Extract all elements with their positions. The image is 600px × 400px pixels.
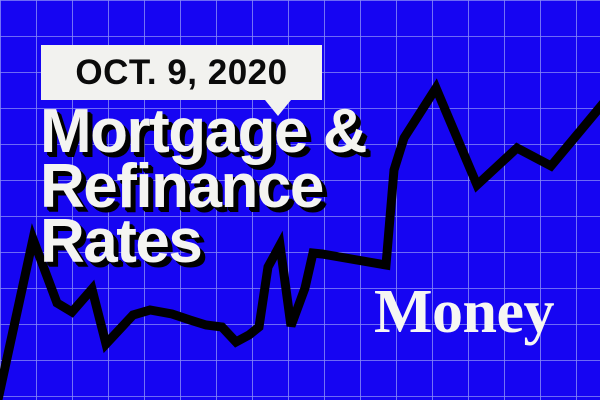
mortgage-rates-promo-card: OCT. 9, 2020 Mortgage & Refinance Rates … — [0, 0, 600, 400]
headline-line-2: Refinance — [40, 159, 366, 214]
headline-line-3: Rates — [40, 214, 366, 269]
page-title: Mortgage & Refinance Rates — [40, 104, 366, 270]
headline-line-1: Mortgage & — [40, 104, 366, 159]
date-label: OCT. 9, 2020 — [75, 55, 287, 90]
money-logo: Money — [374, 281, 554, 343]
date-callout-box: OCT. 9, 2020 — [41, 45, 322, 100]
date-callout: OCT. 9, 2020 — [41, 45, 322, 100]
